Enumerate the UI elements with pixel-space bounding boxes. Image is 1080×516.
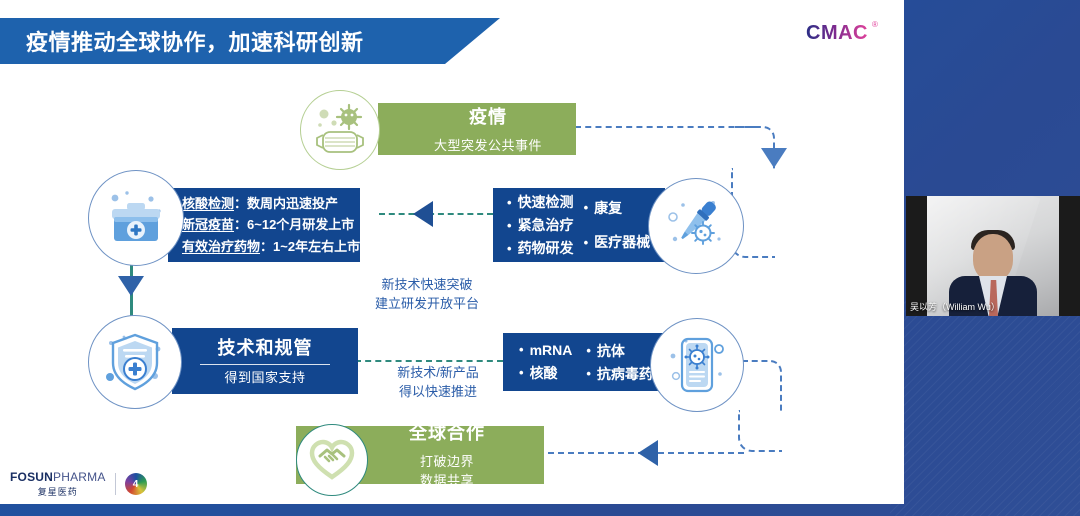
node-epidemic-subtitle: 大型突发公共事件 (400, 137, 576, 156)
node-rd-output-lines: 核酸检测：数周内迅速投产 新冠疫苗：6~12个月研发上市 有效治疗药物：1~2年… (168, 193, 360, 257)
node-new-tech-col2: 抗体 抗病毒药 (586, 341, 653, 384)
fosun-name-light: PHARMA (53, 470, 106, 484)
arrow-down-left (118, 276, 144, 296)
fosun-badge: 4 (125, 473, 147, 495)
dropper-virus-icon (661, 191, 731, 261)
participant-video-tile[interactable]: 吴以芳（William Wu） (906, 196, 1080, 316)
arrow-left-bottom (638, 440, 658, 466)
connector-corner-mid-right (742, 360, 782, 412)
shield-cross-icon (102, 329, 168, 395)
participant-video-feed (927, 196, 1059, 316)
connector-epidemic-to-right (575, 126, 755, 128)
rd-line-2-value: ：6~12个月研发上市 (234, 217, 354, 232)
node-epidemic-icon-circle (300, 90, 380, 170)
rd-line-3-value: ：1~2年左右上市 (260, 239, 360, 254)
virus-document-icon (664, 332, 730, 398)
new-tech-item: 核酸 (519, 362, 572, 384)
node-tech-regulation-subtitle: 得到国家支持 (172, 369, 358, 388)
annotation-fast-advance-line2: 得以快速推进 (372, 383, 504, 402)
rd-line-1-value: ：数周内迅速投产 (234, 196, 338, 211)
node-needs-col2: 康复 医疗器械 (584, 192, 651, 258)
rd-line-3-key: 有效治疗药物 (182, 239, 260, 254)
needs-item: 药物研发 (507, 238, 574, 258)
new-tech-item: mRNA (519, 341, 572, 359)
cmac-registered-mark: ® (872, 20, 878, 29)
node-tech-regulation-bar: 技术和规管 得到国家支持 (172, 328, 358, 394)
node-epidemic-bar: 疫情 大型突发公共事件 (378, 103, 576, 155)
node-global-cooperation-subtitle-1: 打破边界 (350, 453, 544, 472)
node-new-tech-bar: mRNA 核酸 抗体 抗病毒药 (503, 333, 663, 391)
needs-item: 医疗器械 (584, 227, 651, 259)
participant-name-label: 吴以芳（William Wu） (906, 300, 1000, 313)
needs-item: 康复 (584, 192, 651, 224)
rd-line-2-key: 新冠疫苗 (182, 217, 234, 232)
node-needs-columns: 快速检测 紧急治疗 药物研发 康复 医疗器械 (507, 192, 665, 258)
rd-line-1: 核酸检测：数周内迅速投产 (182, 193, 360, 214)
annotation-tech-breakthrough: 新技术快速突破 建立研发开放平台 (352, 276, 502, 314)
new-tech-item: 抗体 (586, 341, 653, 361)
arrow-down-right-top (761, 148, 787, 168)
needs-item: 快速检测 (507, 192, 574, 212)
node-needs-col1: 快速检测 紧急治疗 药物研发 (507, 192, 574, 258)
medical-kit-icon (103, 185, 169, 251)
fosun-name-en: FOSUNPHARMA (10, 470, 106, 484)
handshake-heart-icon (307, 435, 357, 485)
slide-title: 疫情推动全球协作，加速科研创新 (26, 25, 364, 57)
fosun-name-bold: FOSUN (10, 470, 53, 484)
slide-title-banner: 疫情推动全球协作，加速科研创新 (0, 18, 500, 64)
video-conference-screen: 疫情推动全球协作，加速科研创新 CMAC ® 疫情 大型突发公共事 (0, 0, 1080, 516)
node-global-cooperation-icon-circle (296, 424, 368, 496)
annotation-tech-breakthrough-line1: 新技术快速突破 (352, 276, 502, 295)
rd-line-1-key: 核酸检测 (182, 196, 234, 211)
node-needs-icon-circle (648, 178, 744, 274)
node-new-tech-columns: mRNA 核酸 抗体 抗病毒药 (519, 341, 663, 384)
node-new-tech-icon-circle (650, 318, 744, 412)
connector-right-lower (738, 410, 782, 452)
node-global-cooperation-title: 全球合作 (350, 419, 544, 445)
node-global-cooperation-subtitle-2: 数据共享 (350, 472, 544, 491)
node-tech-regulation-divider (200, 364, 330, 366)
fosun-name-cn: 复星医药 (10, 485, 106, 498)
node-tech-regulation-title: 技术和规管 (172, 334, 358, 360)
node-rd-output-bar: 核酸检测：数周内迅速投产 新冠疫苗：6~12个月研发上市 有效治疗药物：1~2年… (168, 188, 360, 262)
annotation-fast-advance-line1: 新技术/新产品 (372, 364, 504, 383)
connector-needs-to-kit (379, 213, 493, 215)
annotation-fast-advance: 新技术/新产品 得以快速推进 (372, 364, 504, 402)
node-needs-bar: 快速检测 紧急治疗 药物研发 康复 医疗器械 (493, 188, 665, 262)
cmac-logo: CMAC (806, 22, 868, 45)
node-epidemic-title: 疫情 (400, 103, 576, 129)
shared-slide: 疫情推动全球协作，加速科研创新 CMAC ® 疫情 大型突发公共事 (0, 0, 904, 504)
fosun-pharma-logo: FOSUNPHARMA 复星医药 4 (10, 470, 147, 498)
new-tech-item: 抗病毒药 (586, 364, 653, 384)
connector-shield-to-newtech (355, 360, 503, 362)
node-new-tech-col1: mRNA 核酸 (519, 341, 572, 384)
node-tech-regulation-icon-circle (88, 315, 182, 409)
arrow-left-to-kit (413, 201, 433, 227)
fosun-divider (115, 473, 116, 495)
rd-line-3: 有效治疗药物：1~2年左右上市 (182, 236, 360, 257)
fosun-wordmark: FOSUNPHARMA 复星医药 (10, 470, 106, 498)
rd-line-2: 新冠疫苗：6~12个月研发上市 (182, 214, 360, 235)
mask-virus-icon (311, 101, 369, 159)
node-rd-output-icon-circle (88, 170, 184, 266)
participant-face (973, 234, 1013, 281)
needs-item: 紧急治疗 (507, 215, 574, 235)
annotation-tech-breakthrough-line2: 建立研发开放平台 (352, 295, 502, 314)
